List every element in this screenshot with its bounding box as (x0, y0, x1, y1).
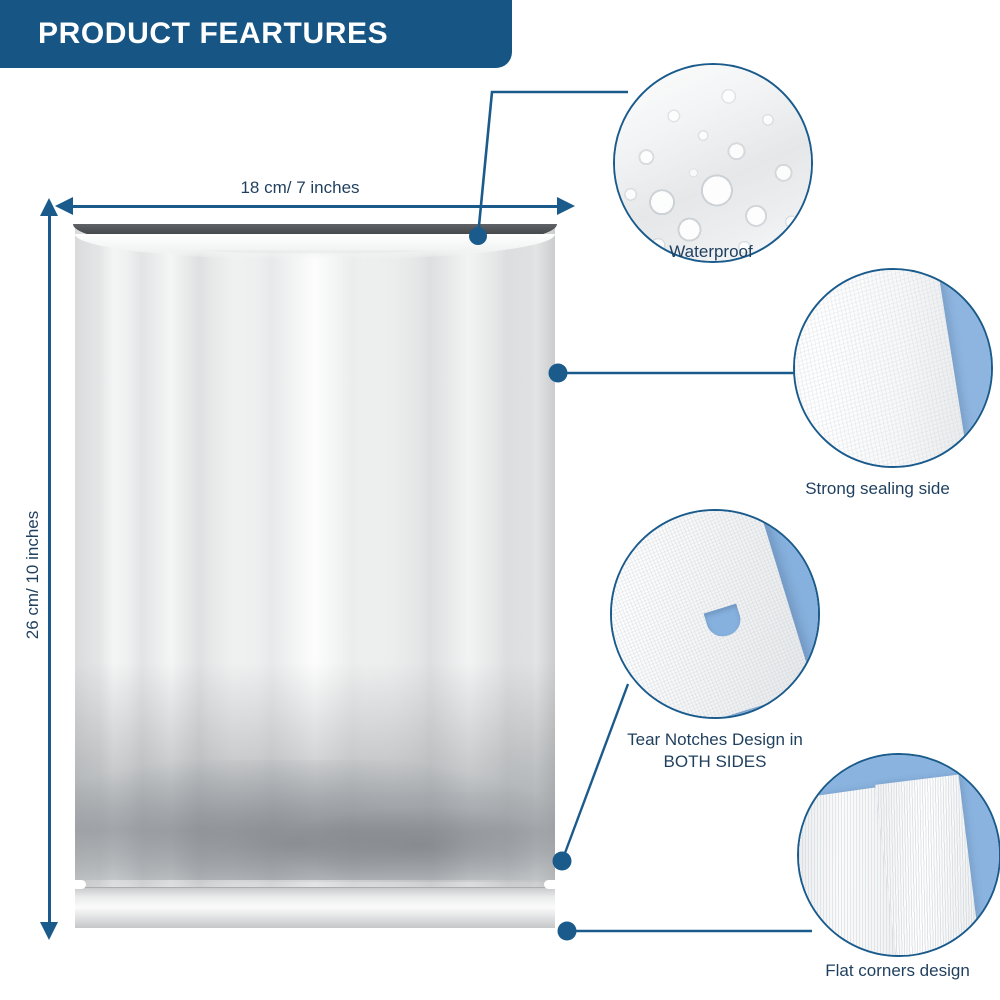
width-dimension-label: 18 cm/ 7 inches (190, 178, 410, 198)
feature-label-tear-notches: Tear Notches Design in BOTH SIDES (600, 729, 830, 773)
feature-label-tear-notches-line1: Tear Notches Design in (600, 729, 830, 751)
sealed-edge-photo (795, 270, 991, 466)
tear-notch-photo (612, 511, 818, 717)
callout-dot-flat-corners (558, 922, 577, 941)
sealing-sheet (793, 268, 969, 468)
tear-notch-right (544, 880, 556, 889)
product-bag-image (75, 228, 555, 928)
feature-image-waterproof (613, 63, 813, 263)
dimension-line (69, 205, 561, 208)
feature-label-flat-corners: Flat corners design (795, 960, 1000, 982)
infographic-canvas: PRODUCT FEARTURES 18 cm/ 7 inches 26 cm/… (0, 0, 1000, 1000)
dimension-line (48, 212, 51, 926)
arrow-right-icon (557, 197, 575, 215)
callout-dot-tear-notches (553, 852, 572, 871)
width-dimension-arrow (55, 195, 575, 217)
flat-corner-photo (799, 755, 999, 955)
arrow-down-icon (40, 922, 58, 940)
feature-label-sealing: Strong sealing side (770, 478, 985, 500)
bag-bottom-seal (75, 887, 555, 928)
water-droplets-photo (615, 65, 811, 261)
tear-notch-left (74, 880, 86, 889)
feature-image-flat-corners (797, 753, 1000, 957)
feature-image-tear-notches (610, 509, 820, 719)
page-title: PRODUCT FEARTURES (38, 17, 388, 51)
height-dimension-label: 26 cm/ 10 inches (23, 475, 43, 675)
feature-label-tear-notches-line2: BOTH SIDES (600, 751, 830, 773)
header-banner: PRODUCT FEARTURES (0, 0, 512, 68)
feature-label-waterproof: Waterproof (611, 241, 811, 263)
bag-body (75, 228, 555, 928)
feature-image-sealing (793, 268, 993, 468)
